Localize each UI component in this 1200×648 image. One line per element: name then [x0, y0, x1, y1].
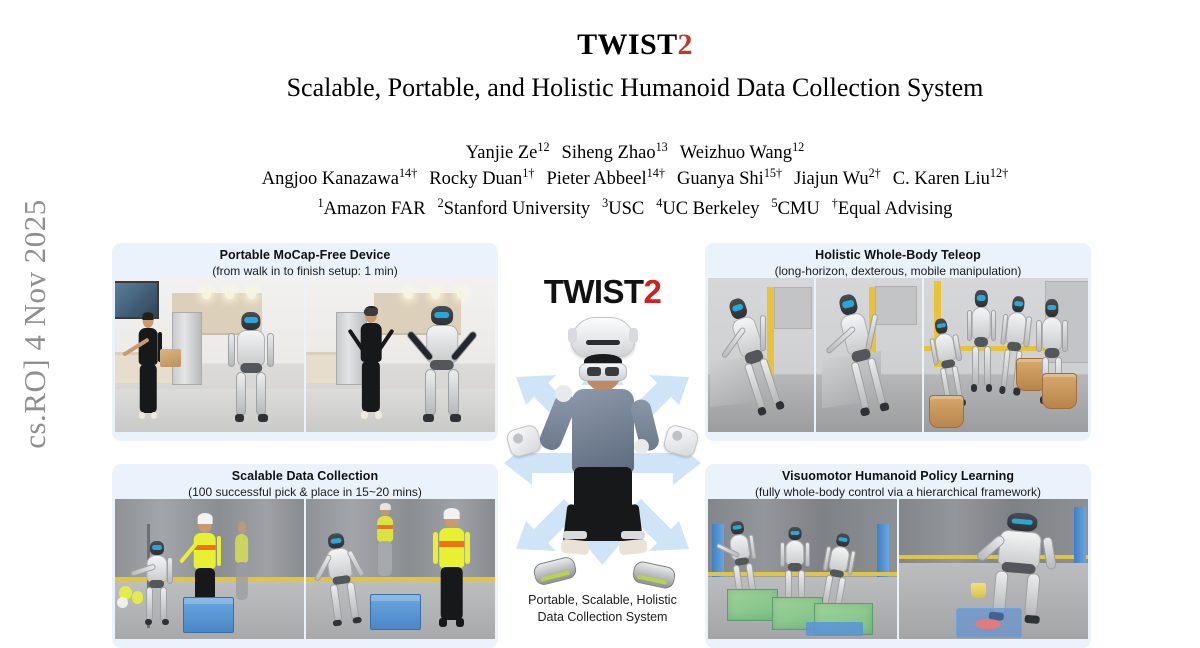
robot-arm-right — [760, 316, 766, 352]
hero-operator-diagram — [500, 315, 705, 590]
panel-photos-top-left — [112, 278, 498, 435]
panel-title-bottom-left: Scalable Data Collection — [112, 469, 498, 484]
humanoid-robot — [136, 541, 178, 628]
affiliation-name: USC — [608, 199, 644, 219]
hard-hat — [197, 513, 212, 523]
panel-subtitle-bottom-left: (100 successful pick & place in 15~20 mi… — [112, 485, 498, 499]
affiliation-entry: †Equal Advising — [832, 199, 953, 219]
person-vr-operator — [351, 306, 391, 423]
arxiv-stamp-text: cs.RO] 4 Nov 2025 — [17, 199, 53, 449]
affiliation-entry: 5CMU — [771, 199, 819, 219]
robot-visor — [838, 536, 848, 542]
hard-hat — [443, 508, 460, 519]
panel-subtitle-top-left: (from walk in to finish setup: 1 min) — [112, 264, 498, 278]
twist2-logo-main: TWIST — [544, 273, 644, 310]
worker-shoe-right — [456, 618, 464, 626]
panel-subtitle-top-right: (long-horizon, dexterous, mobile manipul… — [705, 264, 1091, 278]
author-name: Rocky Duan1† — [429, 169, 534, 189]
hero-caption: Portable, Scalable, Holistic Data Collec… — [500, 592, 705, 626]
center-column: TWIST2 — [500, 243, 705, 648]
author-affiliation-marker: 13 — [656, 140, 668, 154]
blue-crate — [370, 594, 421, 630]
person-shirt — [139, 328, 158, 365]
twist2-logo-num: 2 — [643, 273, 661, 310]
humanoid-robot — [776, 527, 814, 608]
author-name: Weizhuo Wang12 — [680, 143, 804, 163]
operator-vr-headset — [579, 363, 627, 381]
author-name: Siheng Zhao13 — [562, 143, 668, 163]
photo-robots-green-boxes — [708, 499, 897, 639]
hero-caption-line-2: Data Collection System — [500, 609, 705, 626]
page-title: TWIST2 — [70, 28, 1200, 61]
vr-headset-icon — [571, 317, 635, 357]
vr-headset-icon — [364, 308, 378, 316]
page-subtitle: Scalable, Portable, and Holistic Humanoi… — [70, 73, 1200, 103]
robot-visor — [152, 545, 162, 549]
scene-policy-boxes — [708, 499, 897, 639]
robot-arm-right — [1042, 536, 1057, 570]
ceiling-lamp — [457, 290, 466, 299]
robot-leg-left — [146, 587, 153, 621]
robot-torso — [785, 540, 804, 566]
panel-title-top-right: Holistic Whole-Body Teleop — [705, 248, 1091, 263]
author-list: Yanjie Ze12Siheng Zhao13Weizhuo Wang12 A… — [70, 140, 1200, 193]
affiliation-name: UC Berkeley — [662, 199, 759, 219]
panel-header-bottom-left: Scalable Data Collection (100 successful… — [112, 464, 498, 499]
robot-visor — [977, 295, 986, 300]
panel-header-top-left: Portable MoCap-Free Device (from walk in… — [112, 243, 498, 278]
robot-arm-right — [991, 310, 996, 341]
photo-robots-carrying-baskets — [924, 278, 1088, 432]
blue-crate — [183, 597, 234, 633]
panel-header-top-right: Holistic Whole-Body Teleop (long-horizon… — [705, 243, 1091, 278]
author-name: Jiajun Wu2† — [794, 169, 881, 189]
author-affiliation-marker: 14† — [399, 166, 417, 180]
author-affiliation-marker: 12† — [990, 166, 1008, 180]
worker-vest — [235, 534, 249, 563]
robot-leg-left — [330, 584, 343, 622]
photo-robot-bending-crate — [306, 499, 495, 639]
photo-robot-grasping-platform — [708, 278, 814, 432]
scene-warehouse-aisle — [924, 278, 1088, 432]
robot-visor — [244, 317, 258, 323]
robot-leg-right — [256, 372, 265, 416]
scene-policy-cup — [899, 499, 1088, 639]
person-shoe-left — [139, 412, 145, 420]
person-shoe-right — [151, 412, 157, 420]
robot-leg-left — [1000, 349, 1011, 389]
panel-title-bottom-right: Visuomotor Humanoid Policy Learning — [705, 469, 1091, 484]
photo-vr-teleop-kitchen — [306, 278, 495, 432]
robot-arm-left — [967, 310, 972, 341]
author-affiliation-marker: 1† — [522, 166, 534, 180]
panel-title-top-left: Portable MoCap-Free Device — [112, 248, 498, 263]
robot-foot-left — [235, 414, 245, 422]
robot-foot-right — [258, 414, 268, 422]
author-affiliation-marker: 12 — [792, 140, 804, 154]
scene-kitchen-walkin — [115, 278, 304, 432]
author-affiliation-marker: 15† — [764, 166, 782, 180]
worker-vest — [378, 516, 394, 542]
person-walking — [130, 312, 166, 423]
panel-photos-top-right — [705, 278, 1091, 435]
author-line-second: Angjoo Kanazawa14†Rocky Duan1†Pieter Abb… — [70, 166, 1200, 192]
robot-leg-left — [236, 372, 245, 416]
author-name: Yanjie Ze12 — [466, 143, 550, 163]
panel-subtitle-bottom-right: (fully whole-body control via a hierarch… — [705, 485, 1091, 499]
affiliation-line: 1Amazon FAR2Stanford University3USC4UC B… — [70, 199, 1200, 220]
panel-photos-bottom-right — [705, 499, 1091, 642]
author-name: C. Karen Liu12† — [893, 169, 1008, 189]
humanoid-robot — [223, 312, 280, 426]
headset-strap-right — [629, 328, 638, 343]
robot-torso — [972, 307, 991, 340]
blue-mat — [806, 622, 863, 636]
person-shoe-left — [361, 411, 368, 419]
robot-arm-right — [805, 542, 810, 567]
operator-shirt — [572, 389, 634, 473]
person-pants — [362, 361, 380, 412]
robot-foot-left — [757, 407, 767, 418]
scene-data-collection-a — [115, 499, 304, 639]
person-shoe-right — [375, 411, 382, 419]
worker-vest — [439, 528, 465, 568]
robot-leg-right — [448, 369, 458, 415]
robot-arm-right — [267, 333, 274, 367]
robot-foot-right — [353, 616, 362, 624]
robot-leg-right — [867, 357, 887, 406]
operator-shoe-left — [560, 539, 589, 556]
robot-foot-right — [162, 619, 169, 625]
humanoid-robot — [410, 306, 474, 426]
robot-arm-left — [1036, 320, 1042, 352]
worker-arm-right — [217, 536, 221, 566]
vest-stripe — [378, 525, 394, 529]
photo-walk-in-kitchen — [115, 278, 304, 432]
robot-arm-left — [228, 333, 235, 367]
robot-visor — [330, 537, 342, 543]
cardboard-box — [160, 349, 181, 367]
affiliation-name: Amazon FAR — [324, 199, 426, 219]
photo-robot-picking-balls — [115, 499, 304, 639]
worker-arm-right — [465, 532, 470, 565]
robot-leg-left — [850, 361, 870, 410]
worker-background — [370, 505, 400, 583]
worker-head — [238, 521, 246, 534]
operator-ankle-band-left — [563, 531, 587, 539]
ceiling-lamp — [225, 290, 234, 299]
robot-foot-left — [860, 407, 870, 418]
photo-robot-leaning-rail — [816, 278, 922, 432]
robot-foot-left — [423, 414, 434, 422]
robot-foot-left — [145, 619, 152, 625]
page-title-superscript-2: 2 — [677, 28, 692, 61]
robot-leg-right — [984, 346, 991, 387]
author-affiliation-marker: 12 — [537, 140, 549, 154]
robot-foot-left — [971, 384, 977, 391]
robot-leg-left — [972, 346, 979, 387]
robot-arm-right — [865, 314, 879, 352]
headset-visor-slit — [586, 340, 620, 345]
photo-robot-reaching-cup — [899, 499, 1088, 639]
hard-hat — [380, 503, 390, 510]
wicker-basket — [929, 395, 964, 428]
panel-header-bottom-right: Visuomotor Humanoid Policy Learning (ful… — [705, 464, 1091, 499]
person-hair — [143, 312, 154, 320]
robot-leg-right — [160, 587, 167, 621]
robot-torso — [1042, 317, 1062, 351]
affiliation-name: CMU — [778, 199, 820, 219]
affiliation-name: Equal Advising — [838, 199, 953, 219]
wicker-basket — [1042, 373, 1077, 409]
operator-figure — [549, 355, 657, 560]
worker-arm-left — [433, 532, 438, 565]
affiliation-entry: 4UC Berkeley — [656, 199, 759, 219]
panel-holistic-whole-body-teleop: Holistic Whole-Body Teleop (long-horizon… — [705, 243, 1091, 441]
machine-panel — [774, 287, 812, 329]
author-name: Angjoo Kanazawa14† — [262, 169, 417, 189]
worker-shoe-left — [439, 618, 447, 626]
headset-strap-left — [568, 328, 577, 343]
red-marker — [975, 619, 1001, 629]
page-title-main: TWIST — [577, 28, 677, 61]
robot-visor — [434, 312, 449, 318]
scene-kitchen-teleop — [306, 278, 495, 432]
panel-portable-mocap-free-device: Portable MoCap-Free Device (from walk in… — [112, 243, 498, 441]
page-header: TWIST2 Scalable, Portable, and Holistic … — [70, 0, 1200, 103]
panel-photos-bottom-left — [112, 499, 498, 642]
hero-caption-line-1: Portable, Scalable, Holistic — [500, 592, 705, 609]
affiliation-entry: 1Amazon FAR — [318, 199, 426, 219]
panel-scalable-data-collection: Scalable Data Collection (100 successful… — [112, 464, 498, 648]
worker-background — [228, 521, 254, 608]
author-affiliation-marker: 14† — [647, 166, 665, 180]
affiliation-name: Stanford University — [444, 199, 590, 219]
robot-arm-right — [167, 557, 173, 583]
robot-foot-left — [333, 619, 342, 627]
author-affiliation-marker: 2† — [869, 166, 881, 180]
ceiling-lamp — [431, 290, 440, 299]
worker-pants — [236, 562, 248, 600]
robot-foot-right — [775, 401, 785, 412]
operator-ankle-band-right — [621, 531, 645, 539]
robot-foot-right — [879, 402, 889, 413]
robot-arm-left — [780, 542, 785, 567]
twist2-logo: TWIST2 — [500, 273, 705, 311]
affiliation-entry: 2Stanford University — [438, 199, 591, 219]
operator-hand-right — [634, 439, 649, 454]
green-box — [727, 589, 778, 622]
author-name: Guanya Shi15† — [677, 169, 782, 189]
worker-pants — [440, 567, 463, 620]
robot-leg-right — [1023, 573, 1040, 617]
worker-pants — [378, 541, 392, 575]
robot-foot-right — [450, 414, 461, 422]
robot-leg-right — [347, 581, 360, 619]
vest-stripe — [439, 541, 465, 547]
machine-panel — [875, 286, 917, 325]
robot-arm-right — [1062, 320, 1068, 352]
robot-foot-right — [1024, 614, 1039, 623]
person-pants — [140, 364, 157, 413]
author-line-first: Yanjie Ze12Siheng Zhao13Weizhuo Wang12 — [70, 140, 1200, 166]
yellow-cup — [971, 583, 986, 598]
panel-visuomotor-humanoid-policy-learning: Visuomotor Humanoid Policy Learning (ful… — [705, 464, 1091, 648]
operator-hand-left — [555, 385, 572, 402]
scene-warehouse-a — [708, 278, 814, 432]
operator-shoe-right — [618, 539, 647, 556]
author-name: Pieter Abbeel14† — [546, 169, 665, 189]
scene-data-collection-b — [306, 499, 495, 639]
arxiv-stamp: cs.RO] 4 Nov 2025 — [0, 0, 70, 648]
robot-torso — [237, 330, 265, 366]
robot-leg-left — [425, 369, 435, 415]
worker-hi-vis — [427, 510, 476, 630]
affiliation-entry: 3USC — [602, 199, 644, 219]
scene-warehouse-b — [816, 278, 922, 432]
robot-foot-left — [999, 387, 1006, 395]
robot-visor — [790, 531, 799, 535]
